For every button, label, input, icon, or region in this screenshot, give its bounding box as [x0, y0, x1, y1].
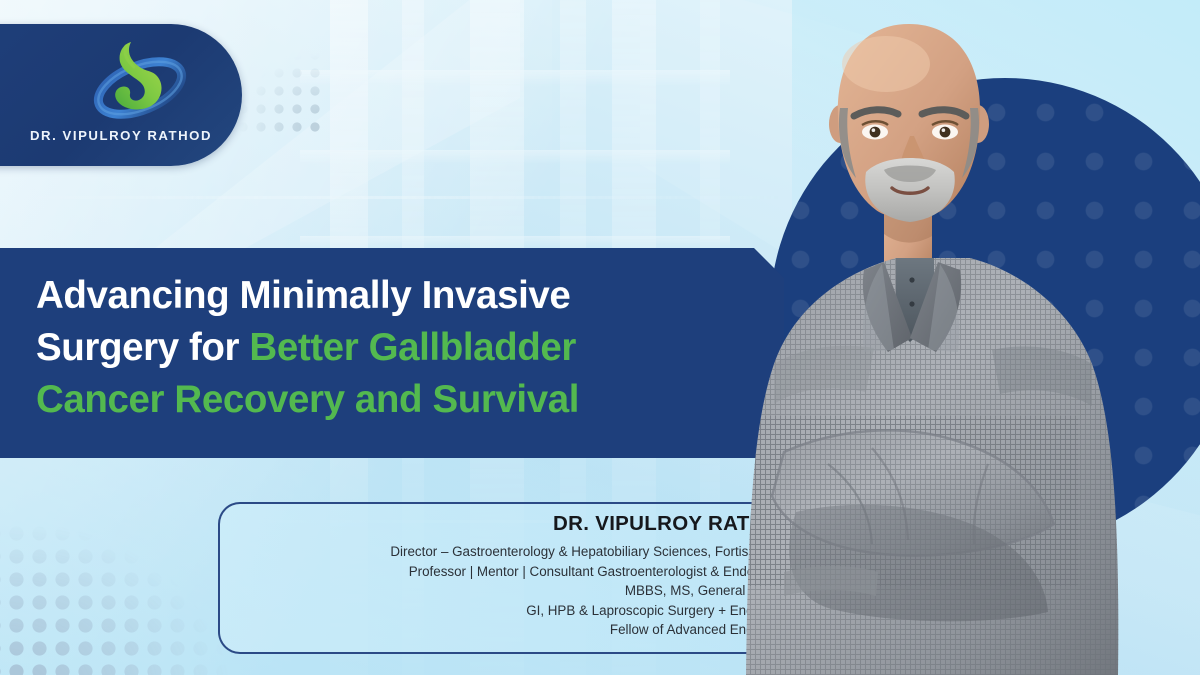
headline-line3-accent: Cancer Recovery and Survival	[36, 378, 579, 421]
headline-line2-white: Surgery for	[36, 326, 249, 369]
page-title: Advancing Minimally Invasive Surgery for…	[36, 270, 736, 426]
headline-line2-accent: Better Gallbladder	[249, 326, 576, 369]
doctor-portrait	[688, 12, 1128, 675]
headline-banner: Advancing Minimally Invasive Surgery for…	[0, 248, 784, 458]
stomach-gi-swoosh-icon	[82, 36, 198, 130]
brand-logo-name: DR. VIPULROY RATHOD	[18, 128, 224, 143]
brand-logo-pill: DR. VIPULROY RATHOD	[0, 24, 242, 166]
halftone-dot-pattern	[0, 499, 252, 675]
headline-line1: Advancing Minimally Invasive	[36, 274, 570, 317]
poster-canvas: DR. VIPULROY RATHOD Advancing Minimally …	[0, 0, 1200, 675]
